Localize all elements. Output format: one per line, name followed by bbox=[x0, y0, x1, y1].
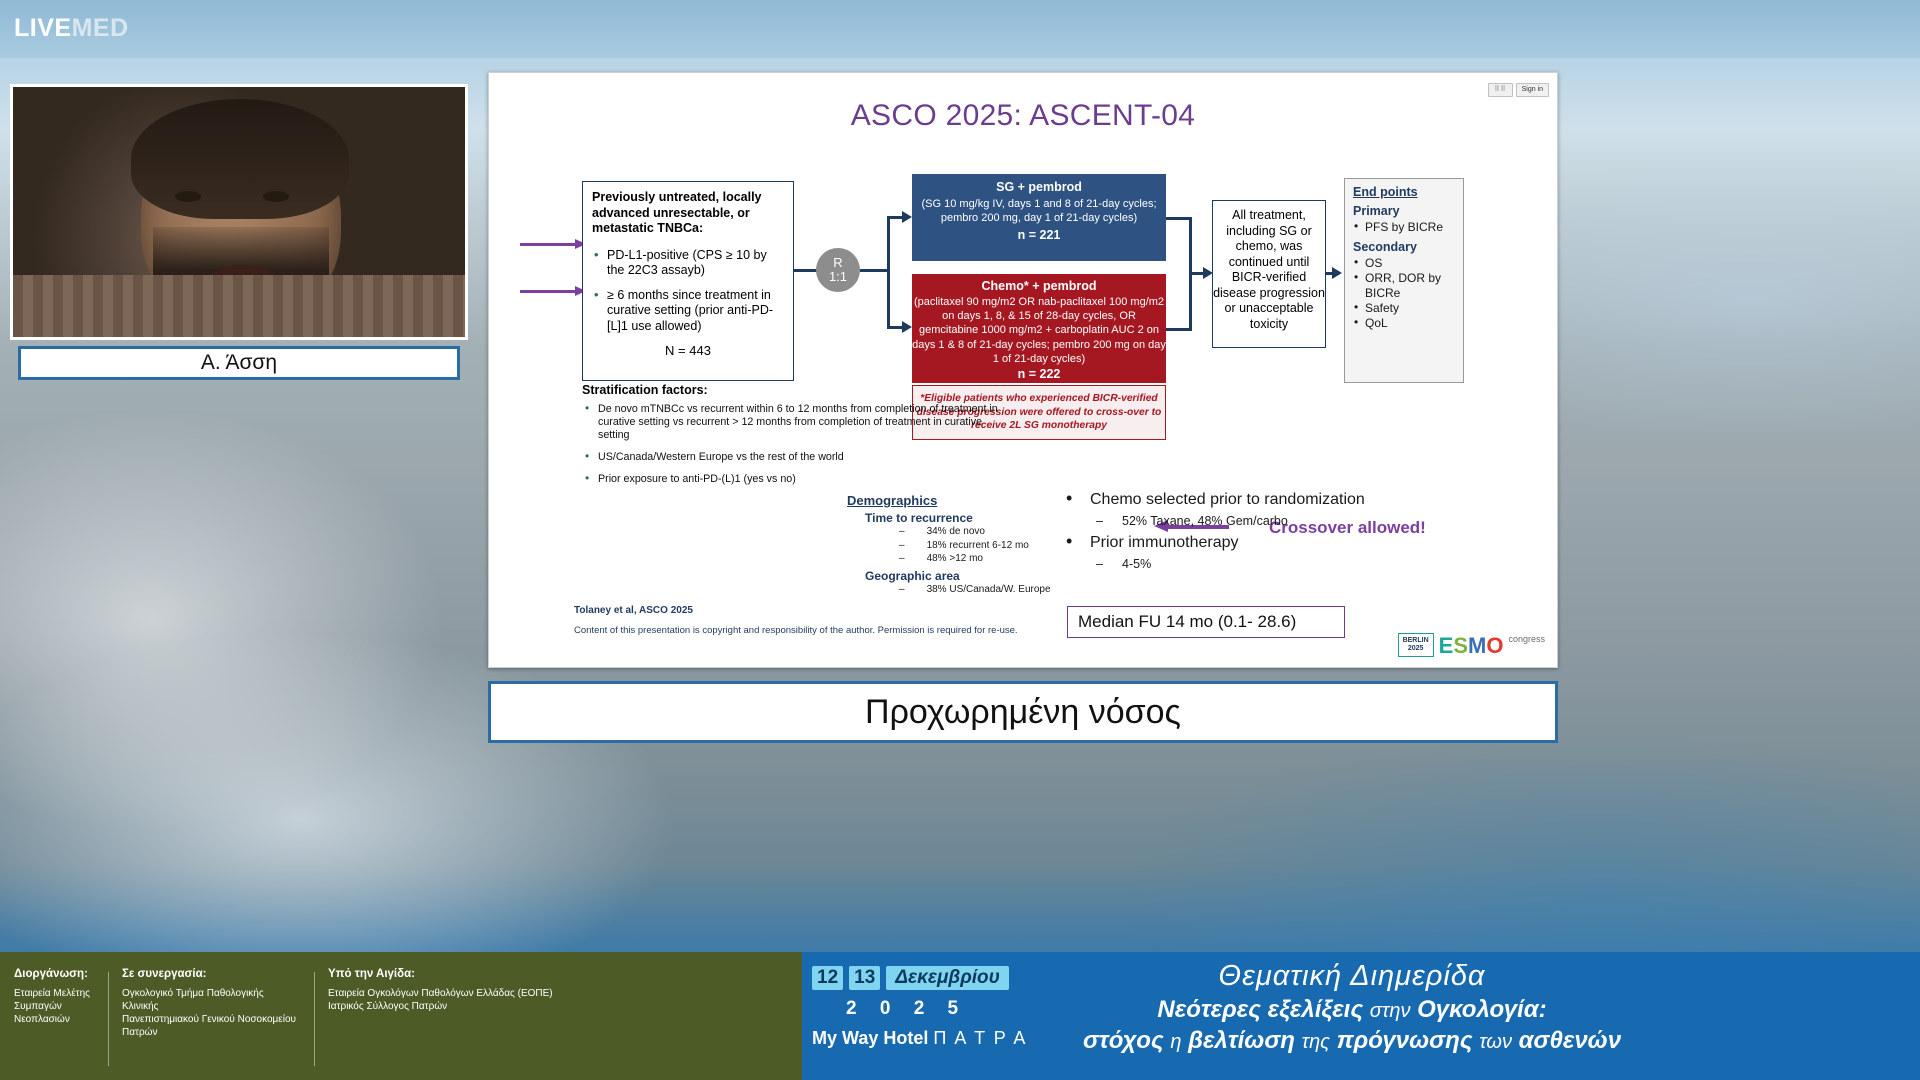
connector-branch-vertical bbox=[887, 216, 890, 329]
event-venue: My Way Hotel Π Α Τ Ρ Α bbox=[812, 1028, 1027, 1049]
arm-red-detail: (paclitaxel 90 mg/m2 OR nab-paclitaxel 1… bbox=[912, 295, 1166, 366]
demographics-row: – 38% US/Canada/W. Europe bbox=[899, 583, 1177, 597]
demographics-value: 18% recurrent 6-12 mo bbox=[927, 539, 1029, 553]
speaker-eye-right bbox=[263, 191, 289, 202]
continuation-box: All treatment, including SG or chemo, wa… bbox=[1212, 200, 1326, 348]
organiser-block: Διοργάνωση: Εταιρεία Μελέτης Συμπαγών Νε… bbox=[0, 968, 108, 1080]
note-subitem: 52% Taxane, 48% Gem/carbo bbox=[1064, 511, 1504, 531]
organiser-title: Υπό την Αιγίδα: bbox=[328, 968, 560, 980]
eligibility-box: Previously untreated, locally advanced u… bbox=[582, 181, 794, 381]
event-title-3f: των bbox=[1479, 1031, 1512, 1053]
event-date-chip: 12 13 Δεκεμβρίου bbox=[812, 966, 1009, 990]
esmo-letter-e: E bbox=[1439, 635, 1454, 657]
speaker-video-feed[interactable] bbox=[10, 84, 468, 340]
esmo-letter-s: S bbox=[1453, 635, 1468, 657]
stratification-section: Stratification factors: De novo mTNBCc v… bbox=[582, 383, 1002, 495]
endpoint-item: OS bbox=[1353, 256, 1455, 271]
endpoints-secondary-label: Secondary bbox=[1353, 240, 1455, 254]
esmo-letter-m: M bbox=[1468, 635, 1486, 657]
median-followup-box: Median FU 14 mo (0.1- 28.6) bbox=[1067, 606, 1345, 638]
slide-citation: Tolaney et al, ASCO 2025 bbox=[574, 605, 693, 616]
event-year: 2 0 2 5 bbox=[846, 998, 967, 1020]
logo-live-text: LIVE bbox=[14, 14, 72, 42]
arm-blue-detail: (SG 10 mg/kg IV, days 1 and 8 of 21-day … bbox=[912, 197, 1166, 225]
event-title-block: Θεματική Διημερίδα Νεότερες εξελίξεις στ… bbox=[1012, 960, 1692, 1055]
event-day-2: 13 bbox=[849, 966, 880, 990]
speaker-eye-left bbox=[175, 191, 201, 202]
event-title-3d: της bbox=[1302, 1031, 1330, 1053]
session-title-bar: Προχωρημένη νόσος bbox=[488, 681, 1558, 743]
speaker-hair bbox=[131, 99, 349, 219]
arm-red-title: Chemo* + pembrod bbox=[912, 279, 1166, 293]
demographics-value: 38% US/Canada/W. Europe bbox=[927, 583, 1051, 597]
organiser-block: Υπό την Αιγίδα: Εταιρεία Ογκολόγων Παθολ… bbox=[314, 968, 574, 1080]
note-bullet: Chemo selected prior to randomization bbox=[1064, 488, 1504, 511]
dash-icon: – bbox=[899, 583, 905, 597]
presentation-slide[interactable]: ⠿⠿ Sign in ASCO 2025: ASCENT-04 Previous… bbox=[488, 72, 1558, 668]
venue-hotel: My Way Hotel bbox=[812, 1028, 928, 1048]
banner-organisers: Διοργάνωση: Εταιρεία Μελέτης Συμπαγών Νε… bbox=[0, 952, 802, 1080]
arrowhead-to-blue-arm bbox=[902, 211, 912, 223]
organiser-title: Σε συνεργασία: bbox=[122, 968, 300, 980]
note-subitem: 4-5% bbox=[1064, 554, 1504, 574]
speaker-shirt bbox=[13, 275, 465, 337]
organiser-title: Διοργάνωση: bbox=[14, 968, 94, 980]
slide-copyright: Content of this presentation is copyrigh… bbox=[574, 625, 1018, 636]
esmo-congress-logo: BERLIN 2025 E S M O congress bbox=[1398, 633, 1545, 657]
eligibility-bullet: PD-L1-positive (CPS ≥ 10 by the 22C3 ass… bbox=[592, 248, 784, 279]
treatment-arm-blue: SG + pembrod (SG 10 mg/kg IV, days 1 and… bbox=[912, 174, 1166, 261]
stratification-item: US/Canada/Western Europe vs the rest of … bbox=[582, 451, 1002, 464]
endpoints-heading: End points bbox=[1353, 185, 1455, 199]
sign-in-button[interactable]: Sign in bbox=[1516, 83, 1549, 97]
event-month: Δεκεμβρίου bbox=[886, 966, 1009, 990]
eligibility-total-n: N = 443 bbox=[592, 343, 784, 358]
event-title-line-1: Θεματική Διημερίδα bbox=[1012, 960, 1692, 993]
slide-title: ASCO 2025: ASCENT-04 bbox=[489, 73, 1557, 133]
organiser-body: Εταιρεία Ογκολόγων Παθολόγων Ελλάδας (ΕΟ… bbox=[328, 987, 560, 1013]
dash-icon: – bbox=[899, 552, 905, 566]
event-title-3c: βελτίωση bbox=[1188, 1027, 1295, 1054]
endpoint-item: PFS by BICRe bbox=[1353, 220, 1455, 235]
connector-branch-top bbox=[887, 216, 903, 219]
stratification-list: De novo mTNBCc vs recurrent within 6 to … bbox=[582, 403, 1002, 486]
event-title-3e: πρόγνωσης bbox=[1337, 1027, 1473, 1054]
event-title-2c: Ογκολογία: bbox=[1417, 996, 1546, 1023]
connector-elig-to-r bbox=[794, 269, 818, 272]
speaker-name-plate: Α. Άσση bbox=[18, 346, 460, 380]
event-title-2a: Νεότερες εξελίξεις bbox=[1157, 996, 1363, 1023]
note-bullet: Prior immunotherapy bbox=[1064, 531, 1504, 554]
stratification-item: De novo mTNBCc vs recurrent within 6 to … bbox=[582, 403, 1002, 442]
livemed-logo: LIVEMED bbox=[14, 14, 129, 43]
eligibility-bullet: ≥ 6 months since treatment in curative s… bbox=[592, 288, 784, 335]
event-banner: Διοργάνωση: Εταιρεία Μελέτης Συμπαγών Νε… bbox=[0, 952, 1920, 1080]
slide-notes-section: Chemo selected prior to randomization 52… bbox=[1064, 488, 1504, 574]
randomization-circle: R 1:1 bbox=[816, 248, 860, 292]
entry-arrow-2 bbox=[520, 290, 576, 293]
event-day-1: 12 bbox=[812, 966, 843, 990]
randomization-ratio: 1:1 bbox=[829, 270, 847, 284]
entry-arrow-1 bbox=[520, 243, 576, 246]
event-title-line-3: στόχος η βελτίωση της πρόγνωσης των ασθε… bbox=[1012, 1027, 1692, 1055]
endpoint-item: ORR, DOR by BICRe bbox=[1353, 271, 1455, 301]
esmo-berlin-city: BERLIN bbox=[1403, 637, 1429, 645]
slide-window-controls[interactable]: ⠿⠿ Sign in bbox=[1488, 83, 1549, 97]
arm-blue-n: n = 221 bbox=[912, 228, 1166, 242]
arrowhead-to-red-arm bbox=[902, 321, 912, 333]
esmo-berlin-year: 2025 bbox=[1403, 645, 1429, 653]
drag-handle-icon[interactable]: ⠿⠿ bbox=[1488, 83, 1512, 97]
background-sky-band bbox=[0, 0, 1920, 58]
arm-red-n: n = 222 bbox=[912, 367, 1166, 381]
esmo-letters: E S M O bbox=[1439, 635, 1504, 657]
treatment-arm-red: Chemo* + pembrod (paclitaxel 90 mg/m2 OR… bbox=[912, 274, 1166, 383]
eligibility-heading: Previously untreated, locally advanced u… bbox=[592, 190, 784, 237]
randomization-letter: R bbox=[833, 256, 842, 270]
dash-icon: – bbox=[899, 539, 905, 553]
esmo-berlin-badge: BERLIN 2025 bbox=[1398, 633, 1434, 657]
demographics-value: 48% >12 mo bbox=[927, 552, 983, 566]
connector-r-stem bbox=[860, 269, 890, 272]
dash-icon: – bbox=[899, 525, 905, 539]
esmo-letter-o: O bbox=[1486, 635, 1503, 657]
logo-med-text: MED bbox=[72, 14, 129, 42]
arrowhead-to-endpoints bbox=[1332, 267, 1342, 279]
speaker-name-text: Α. Άσση bbox=[201, 351, 277, 375]
speaker-video-panel[interactable]: Α. Άσση bbox=[10, 84, 470, 380]
endpoints-primary-label: Primary bbox=[1353, 204, 1455, 218]
endpoint-item: Safety bbox=[1353, 301, 1455, 316]
endpoints-secondary-list: OS ORR, DOR by BICRe Safety QoL bbox=[1353, 256, 1455, 331]
session-title-text: Προχωρημένη νόσος bbox=[865, 693, 1181, 732]
event-title-3b: η bbox=[1170, 1031, 1181, 1053]
event-title-3g: ασθενών bbox=[1519, 1027, 1621, 1054]
banner-event-info: 12 13 Δεκεμβρίου 2 0 2 5 My Way Hotel Π … bbox=[802, 952, 1920, 1080]
demographics-value: 34% de novo bbox=[927, 525, 985, 539]
organiser-body: Εταιρεία Μελέτης Συμπαγών Νεοπλασιών bbox=[14, 987, 94, 1026]
event-title-2b: στην bbox=[1370, 1000, 1411, 1022]
endpoints-box: End points Primary PFS by BICRe Secondar… bbox=[1344, 178, 1464, 383]
arm-blue-title: SG + pembrod bbox=[912, 180, 1166, 194]
organiser-block: Σε συνεργασία: Ογκολογικό Τμήμα Παθολογι… bbox=[108, 968, 314, 1080]
endpoint-item: QoL bbox=[1353, 316, 1455, 331]
eligibility-bullet-list: PD-L1-positive (CPS ≥ 10 by the 22C3 ass… bbox=[592, 248, 784, 335]
event-title-3a: στόχος bbox=[1083, 1027, 1164, 1054]
endpoints-primary-list: PFS by BICRe bbox=[1353, 220, 1455, 235]
connector-branch-bottom bbox=[887, 326, 903, 329]
event-title-line-2: Νεότερες εξελίξεις στην Ογκολογία: bbox=[1012, 996, 1692, 1024]
organiser-body: Ογκολογικό Τμήμα Παθολογικής Κλινικής Πα… bbox=[122, 987, 300, 1039]
stratification-item: Prior exposure to anti-PD-(L)1 (yes vs n… bbox=[582, 473, 1002, 486]
esmo-congress-text: congress bbox=[1508, 634, 1545, 644]
stratification-heading: Stratification factors: bbox=[582, 383, 1002, 397]
